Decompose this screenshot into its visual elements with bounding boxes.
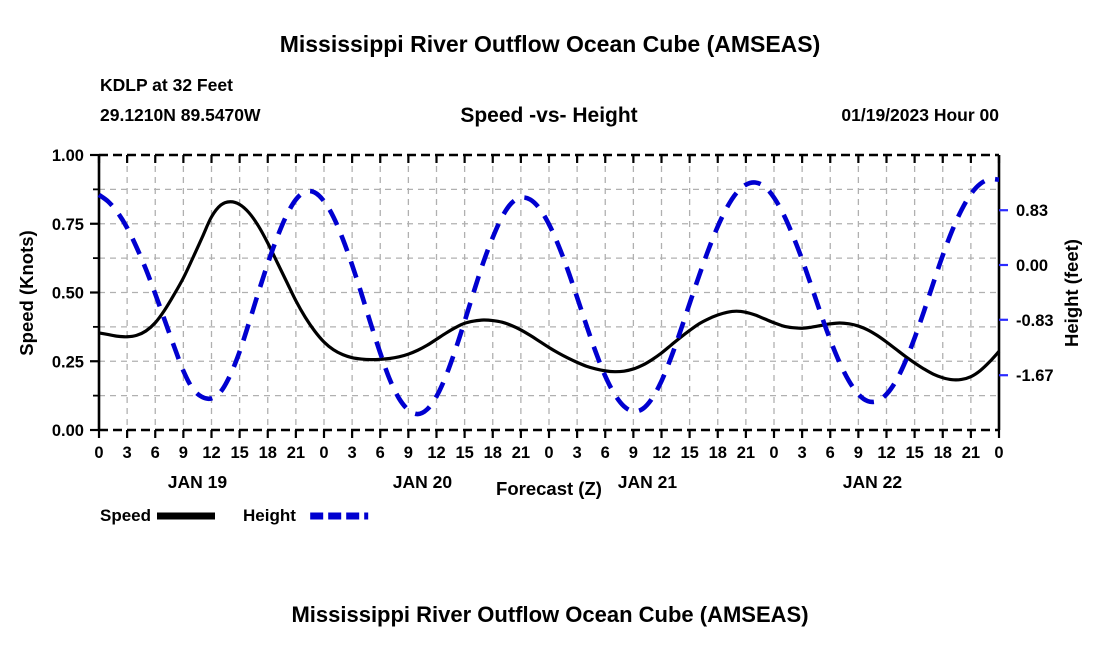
y2-tick-label: 0.00	[1016, 257, 1048, 275]
y2-tick-label: -1.67	[1016, 367, 1054, 385]
x-tick-label: 18	[709, 444, 727, 462]
chart-figure: Mississippi River Outflow Ocean Cube (AM…	[0, 0, 1100, 650]
x-tick-label: 6	[601, 444, 610, 462]
x-tick-label: 9	[629, 444, 638, 462]
y-tick-label: 0.50	[52, 285, 84, 303]
x-tick-label: 0	[994, 444, 1003, 462]
y2-axis-title: Height (feet)	[1061, 239, 1082, 347]
station-label: KDLP at 32 Feet	[100, 75, 233, 95]
x-tick-label: 15	[455, 444, 473, 462]
x-axis-day-label: JAN 21	[618, 472, 678, 492]
y-tick-label: 0.25	[52, 353, 84, 371]
chart-subtitle: Speed -vs- Height	[460, 104, 637, 127]
x-tick-label: 12	[202, 444, 220, 462]
x-tick-label: 0	[319, 444, 328, 462]
x-tick-label: 6	[826, 444, 835, 462]
x-tick-label: 9	[179, 444, 188, 462]
x-tick-label: 21	[512, 444, 530, 462]
y-tick-label: 0.00	[52, 422, 84, 440]
x-tick-label: 21	[737, 444, 755, 462]
page-title: Mississippi River Outflow Ocean Cube (AM…	[280, 31, 821, 57]
run-time-label: 01/19/2023 Hour 00	[841, 105, 999, 125]
x-tick-label: 9	[854, 444, 863, 462]
y-tick-label: 0.75	[52, 216, 84, 234]
x-tick-label: 9	[404, 444, 413, 462]
x-tick-label: 21	[962, 444, 980, 462]
coordinates-label: 29.1210N 89.5470W	[100, 105, 261, 125]
x-tick-label: 3	[798, 444, 807, 462]
x-axis-day-label: JAN 19	[168, 472, 228, 492]
x-tick-label: 0	[769, 444, 778, 462]
x-tick-label: 15	[680, 444, 698, 462]
x-tick-label: 15	[230, 444, 248, 462]
y-axis-title: Speed (Knots)	[16, 230, 37, 355]
x-tick-label: 21	[287, 444, 305, 462]
x-axis-title: Forecast (Z)	[496, 478, 602, 499]
x-tick-label: 3	[573, 444, 582, 462]
x-tick-label: 15	[905, 444, 923, 462]
y2-tick-label: -0.83	[1016, 312, 1054, 330]
x-tick-label: 12	[877, 444, 895, 462]
x-axis-day-label: JAN 22	[843, 472, 903, 492]
x-tick-label: 0	[94, 444, 103, 462]
x-tick-label: 6	[151, 444, 160, 462]
x-tick-label: 3	[348, 444, 357, 462]
legend-label-speed: Speed	[100, 506, 151, 525]
x-tick-label: 18	[259, 444, 277, 462]
x-tick-label: 0	[544, 444, 553, 462]
x-tick-label: 18	[934, 444, 952, 462]
footer-title: Mississippi River Outflow Ocean Cube (AM…	[291, 602, 808, 627]
x-tick-label: 12	[652, 444, 670, 462]
legend-label-height: Height	[243, 506, 296, 525]
x-tick-label: 6	[376, 444, 385, 462]
x-tick-label: 12	[427, 444, 445, 462]
x-tick-label: 3	[123, 444, 132, 462]
y2-tick-label: 0.83	[1016, 202, 1048, 220]
y-tick-label: 1.00	[52, 147, 84, 165]
x-axis-day-label: JAN 20	[393, 472, 453, 492]
x-tick-label: 18	[484, 444, 502, 462]
